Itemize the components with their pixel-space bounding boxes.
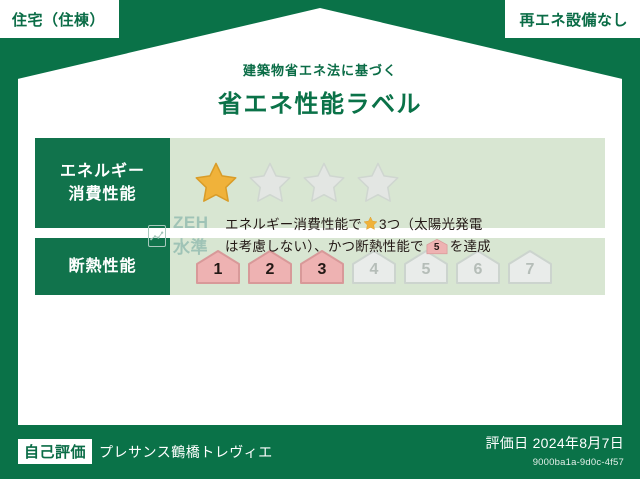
star-icon-empty [300,160,348,206]
zeh-desc-grade-badge: 5 [426,238,448,255]
evaluation-date: 評価日 2024年8月7日 [485,433,624,453]
building-name: プレサンス鶴橋トレヴィエ [99,442,273,462]
zeh-mark: ZEH水準 [35,213,225,258]
footer-left: 自己評価 プレサンス鶴橋トレヴィエ [18,439,273,464]
label-footer: 自己評価 プレサンス鶴橋トレヴィエ 評価日 2024年8月7日 9000ba1a… [0,425,640,479]
house-panel: 建築物省エネ法に基づく 省エネ性能ラベル エネルギー 消費性能 断熱性能 [18,8,622,425]
zeh-desc-part3: は考慮しない）、かつ断熱性能で [225,239,424,254]
document-id: 9000ba1a-9d0c-4f57 [485,457,624,468]
zeh-desc-part1: エネルギー消費性能で [225,217,362,232]
title-subtitle: 建築物省エネ法に基づく [18,60,622,79]
zeh-desc-part4: を達成 [450,239,491,254]
zeh-note: ZEH水準 エネルギー消費性能で3つ（太陽光発電は考慮しない）、かつ断熱性能で5… [35,213,605,258]
insulation-performance-name-line1: 断熱性能 [68,255,136,278]
zeh-desc-part2: 3つ（太陽光発電 [379,217,483,232]
title-main: 省エネ性能ラベル [18,84,622,119]
energy-performance-name-line1: エネルギー [60,160,145,183]
footer-right: 評価日 2024年8月7日 9000ba1a-9d0c-4f57 [485,433,624,468]
star-icon-empty [354,160,402,206]
evaluation-type-tag: 自己評価 [18,439,92,464]
energy-performance-label: 住宅（住棟） 再エネ設備なし 建築物省エネ法に基づく 省エネ性能ラベル エネルギ… [0,0,640,479]
label-title: 建築物省エネ法に基づく 省エネ性能ラベル [18,60,622,119]
zeh-description: エネルギー消費性能で3つ（太陽光発電は考慮しない）、かつ断熱性能で5を達成 [225,214,491,257]
star-icon [363,216,378,231]
star-icon-empty [246,160,294,206]
energy-performance-name-line2: 消費性能 [68,183,136,206]
star-rating [170,160,402,206]
zeh-desc-grade-value: 5 [426,238,448,255]
zeh-mark-label: ZEH水準 [173,213,225,258]
star-icon-filled [192,160,240,206]
trend-chart-icon [148,225,166,247]
